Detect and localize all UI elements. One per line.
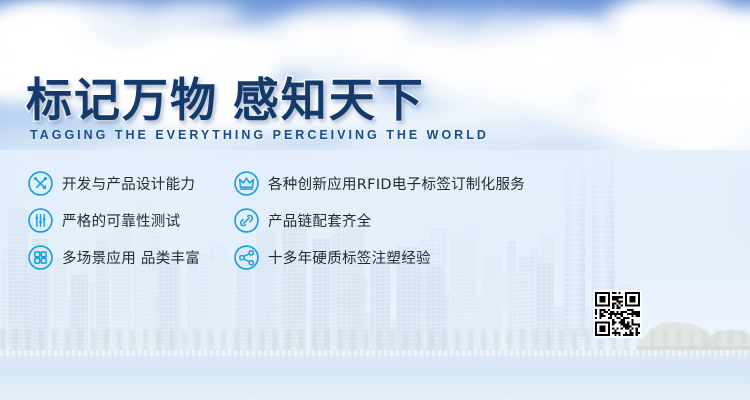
promo-banner: 标记万物 感知天下 TAGGING THE EVERYTHING PERCEIV… — [0, 0, 750, 400]
sliders-icon — [28, 208, 53, 233]
grid-squares-icon — [28, 245, 53, 270]
feature-column-left: 开发与产品设计能力严格的可靠性测试多场景应用 品类丰富 — [28, 165, 200, 276]
feature-item-label: 各种创新应用RFID电子标签订制化服务 — [268, 173, 525, 194]
feature-item: 严格的可靠性测试 — [28, 202, 200, 239]
feature-item-label: 开发与产品设计能力 — [62, 173, 195, 194]
feature-item: 开发与产品设计能力 — [28, 165, 200, 202]
feature-item-label: 产品链配套齐全 — [268, 210, 372, 231]
headline: 标记万物 感知天下 — [26, 74, 425, 126]
feature-item: 各种创新应用RFID电子标签订制化服务 — [234, 165, 525, 202]
feature-item-label: 十多年硬质标签注塑经验 — [268, 247, 431, 268]
feature-item: 十多年硬质标签注塑经验 — [234, 239, 525, 276]
feature-item: 产品链配套齐全 — [234, 202, 525, 239]
share-network-icon — [234, 245, 259, 270]
qr-code[interactable] — [593, 290, 642, 338]
feature-item: 多场景应用 品类丰富 — [28, 239, 200, 276]
crossed-tools-icon — [28, 171, 53, 196]
subheadline: TAGGING THE EVERYTHING PERCEIVING THE WO… — [30, 128, 489, 142]
feature-column-right: 各种创新应用RFID电子标签订制化服务产品链配套齐全十多年硬质标签注塑经验 — [234, 165, 525, 276]
link-chain-icon — [234, 208, 259, 233]
crown-icon — [234, 171, 259, 196]
feature-item-label: 多场景应用 品类丰富 — [62, 247, 200, 268]
qr-code-image — [595, 292, 640, 336]
feature-item-label: 严格的可靠性测试 — [62, 210, 180, 231]
